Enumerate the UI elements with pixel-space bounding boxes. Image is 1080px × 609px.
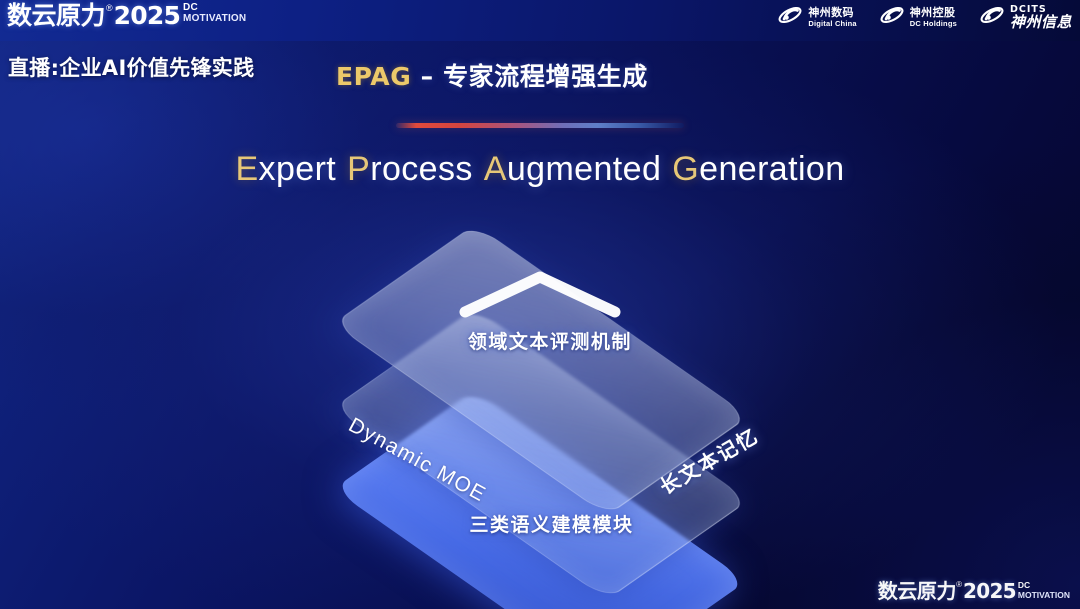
acronym-rest: eneration [699,150,844,188]
brand-registered-mark: ® [106,2,113,14]
page-title-acronym: EPAG [336,62,411,91]
watermark-motivation-label: MOTIVATION [1018,591,1070,600]
swirl-icon [879,4,905,31]
acronym-rest: rocess [370,150,473,188]
partner-text: 神州数码 Digital China [808,7,856,27]
acronym-word: Process [347,150,473,188]
partner-logo-digital-china: 神州数码 Digital China [777,4,856,31]
live-stream-title: 直播:企业AI价值先锋实践 [8,52,254,82]
acronym-rest: ugmented [507,150,661,188]
partner-name-en: Digital China [808,20,856,28]
watermark-registered-mark: ® [956,580,962,590]
layer-label-bottom: 三类语义建模模块 [469,510,633,537]
slide-canvas: 数云原力 ® 2025 DC MOTIVATION 神州数码 Digital C… [0,0,1080,609]
layer-label-top: 领域文本评测机制 [468,327,632,354]
partner-name-cn: 神州控股 [910,7,957,19]
page-title-cn: – 专家流程增强生成 [411,62,648,91]
page-title: EPAG – 专家流程增强生成 [336,57,648,93]
layer-stack-diagram: 领域文本评测机制 Dynamic MOE 长文本记忆 三类语义建模模块 [282,222,798,582]
brand-logo: 数云原力 ® 2025 DC MOTIVATION [7,2,246,30]
acronym-word: Generation [672,150,844,188]
acronym-expansion: ExpertProcessAugmentedGeneration [0,150,1080,189]
brand-subtitle: DC MOTIVATION [183,3,246,24]
acronym-word: Augmented [484,150,662,188]
swirl-icon [979,4,1005,31]
acronym-initial: A [484,150,507,188]
partner-name-en: DC Holdings [910,20,957,28]
acronym-initial: P [347,150,370,188]
partner-logo-dc-holdings: 神州控股 DC Holdings [879,4,957,31]
brand-year: 2025 [114,2,180,30]
partner-name-cn: 神州数码 [808,7,856,19]
partner-text: 神州控股 DC Holdings [910,7,957,27]
brand-name-cn: 数云原力 [7,2,105,30]
acronym-word: Expert [235,150,336,188]
acronym-rest: xpert [259,150,337,188]
swirl-icon [777,4,803,31]
brand-dc-label: DC [183,3,246,13]
watermark-name-cn: 数云原力 [878,580,956,603]
partner-text: DCITS 神州信息 [1010,4,1072,31]
watermark-year: 2025 [963,580,1016,603]
watermark-dc-label: DC [1018,581,1070,590]
partner-name-cn: 神州信息 [1010,15,1072,31]
partner-logo-group: 神州数码 Digital China 神州控股 DC Holdings [777,4,1072,31]
partner-logo-dcits: DCITS 神州信息 [979,4,1072,31]
gradient-divider [396,123,684,128]
watermark-subtitle: DC MOTIVATION [1018,581,1070,600]
acronym-initial: E [235,150,258,188]
acronym-initial: G [672,150,699,188]
brand-motivation-label: MOTIVATION [183,14,246,24]
watermark-logo: 数云原力 ® 2025 DC MOTIVATION [878,580,1070,603]
